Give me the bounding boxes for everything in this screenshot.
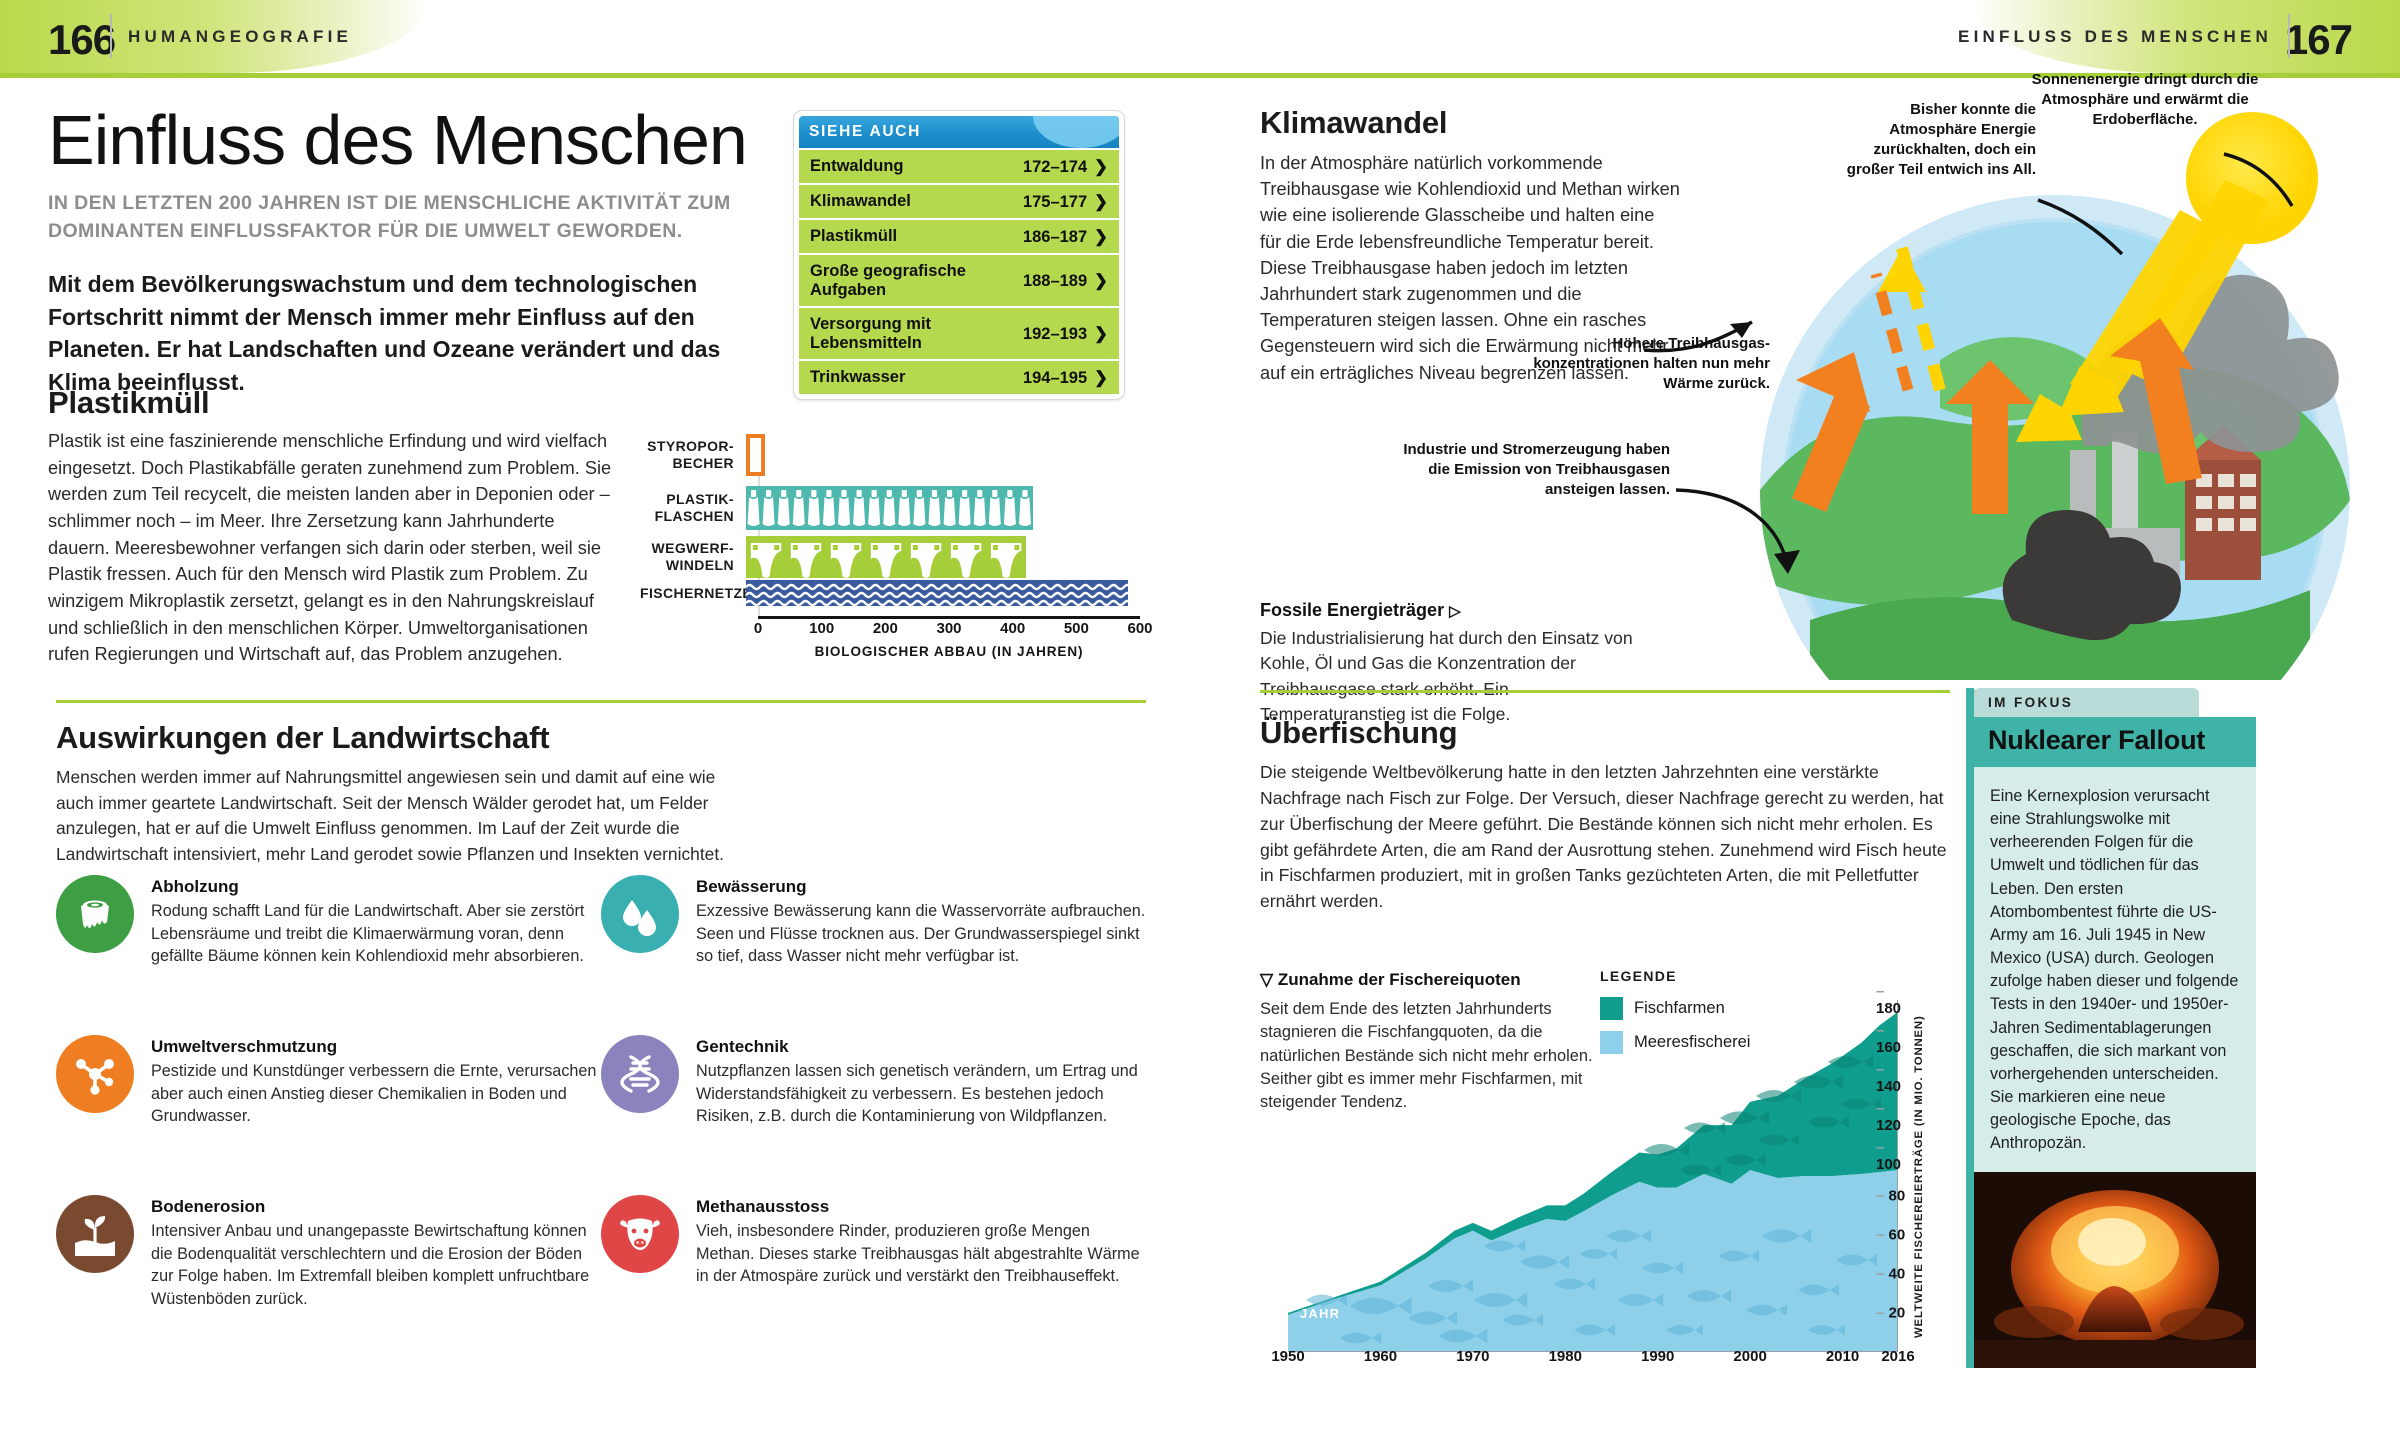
agriculture-impacts-grid: AbholzungRodung schafft Land für die Lan…: [56, 875, 1156, 1355]
chevron-right-icon: ❯: [1094, 228, 1108, 246]
running-head-left: HUMANGEOGRAFIE: [128, 27, 352, 47]
right-page: 167 EINFLUSS DES MENSCHEN: [1200, 0, 2400, 1434]
page-number-right: 167: [2285, 16, 2352, 64]
plastic-degradation-bar-chart: STYROPOR-BECHERPLASTIK-FLASCHENWEGWERF-W…: [640, 410, 1140, 660]
see-also-row[interactable]: Plastikmüll186–187❯: [799, 220, 1119, 253]
chevron-right-icon: ❯: [1094, 158, 1108, 176]
see-also-pages: 172–174❯: [1023, 157, 1108, 177]
chevron-right-icon: ❯: [1094, 272, 1108, 290]
see-also-label: Versorgung mit Lebensmitteln: [810, 315, 1023, 353]
impact-title: Bewässerung: [696, 877, 1146, 897]
agriculture-heading: Auswirkungen der Landwirtschaft: [56, 720, 549, 756]
page-deck: IN DEN LETZTEN 200 JAHREN IST DIE MENSCH…: [48, 190, 768, 245]
see-also-label: Plastikmüll: [810, 227, 897, 246]
see-also-pages: 194–195❯: [1023, 368, 1108, 388]
section-rule-agriculture: [56, 700, 1146, 703]
bar-chart-tick: 0: [754, 620, 762, 637]
bar-chart-x-ticks: 0100200300400500600: [758, 620, 1140, 642]
chevron-right-icon: ❯: [1094, 369, 1108, 387]
see-also-row[interactable]: Entwaldung172–174❯: [799, 150, 1119, 183]
see-also-box: SIEHE AUCH Entwaldung172–174❯Klimawandel…: [793, 110, 1125, 400]
bar-chart-tick: 600: [1127, 620, 1152, 637]
bar-chart-bar: [746, 536, 1026, 578]
agriculture-body: Menschen werden immer auf Nahrungsmittel…: [56, 765, 746, 867]
bar-chart-tick: 500: [1064, 620, 1089, 637]
see-also-row[interactable]: Große geografische Aufgaben188–189❯: [799, 255, 1119, 306]
impact-item: BewässerungExzessive Bewässerung kann di…: [601, 875, 1146, 1035]
bar-chart-category-label: PLASTIK-FLASCHEN: [640, 491, 746, 524]
impact-title: Bodenerosion: [151, 1197, 601, 1217]
dna-helix-icon: [601, 1035, 679, 1113]
impact-text: Vieh, insbesondere Rinder, produzieren g…: [696, 1220, 1146, 1288]
see-also-label: Klimawandel: [810, 192, 911, 211]
water-drops-icon: [601, 875, 679, 953]
bar-chart-tick: 200: [873, 620, 898, 637]
bar-chart-row: WEGWERF-WINDELN: [640, 536, 1026, 578]
bar-chart-category-label: FISCHERNETZE: [640, 585, 746, 602]
bar-chart-category-label: STYROPOR-BECHER: [640, 438, 746, 471]
page-lede: Mit dem Bevölkerungswachstum und dem tec…: [48, 268, 748, 399]
tree-stump-icon: [56, 875, 134, 953]
see-also-header: SIEHE AUCH: [799, 116, 1119, 148]
plastik-body: Plastik ist eine faszinierende menschlic…: [48, 428, 613, 668]
book-spread: 166 HUMANGEOGRAFIE Einfluss des Menschen…: [0, 0, 2400, 1434]
left-page: 166 HUMANGEOGRAFIE Einfluss des Menschen…: [0, 0, 1200, 1434]
see-also-pages: 188–189❯: [1023, 271, 1108, 291]
page-number-left: 166: [48, 16, 115, 64]
header-green-rule-right: [1200, 73, 2400, 78]
impact-title: Gentechnik: [696, 1037, 1146, 1057]
see-also-header-label: SIEHE AUCH: [809, 123, 921, 140]
cow-head-icon: [601, 1195, 679, 1273]
header-green-rule: [0, 73, 1200, 78]
chevron-right-icon: ❯: [1094, 325, 1108, 343]
bar-chart-bar: [746, 486, 1033, 530]
bar-chart-baseline: [758, 616, 1140, 619]
impact-text: Pestizide und Kunstdünger verbessern die…: [151, 1060, 601, 1128]
see-also-pages: 186–187❯: [1023, 227, 1108, 247]
see-also-label: Entwaldung: [810, 157, 904, 176]
page-title: Einfluss des Menschen: [48, 100, 747, 180]
bar-chart-bar: [746, 580, 1128, 606]
bar-chart-row: STYROPOR-BECHER: [640, 434, 765, 476]
impact-item: MethanausstossVieh, insbesondere Rinder,…: [601, 1195, 1146, 1355]
seedling-soil-icon: [56, 1195, 134, 1273]
running-head-right: EINFLUSS DES MENSCHEN: [1958, 27, 2272, 47]
header-divider-left: [110, 14, 112, 58]
impact-item: GentechnikNutzpflanzen lassen sich genet…: [601, 1035, 1146, 1195]
bar-chart-row: PLASTIK-FLASCHEN: [640, 486, 1033, 530]
plastik-heading: Plastikmüll: [48, 385, 209, 421]
bar-chart-tick: 100: [809, 620, 834, 637]
see-also-pages: 175–177❯: [1023, 192, 1108, 212]
impact-item: AbholzungRodung schafft Land für die Lan…: [56, 875, 601, 1035]
impact-text: Rodung schafft Land für die Landwirtscha…: [151, 900, 601, 968]
bar-chart-x-label: BIOLOGISCHER ABBAU (IN JAHREN): [758, 644, 1140, 659]
see-also-row[interactable]: Trinkwasser194–195❯: [799, 361, 1119, 394]
impact-text: Nutzpflanzen lassen sich genetisch verän…: [696, 1060, 1146, 1128]
chevron-right-icon: ❯: [1094, 193, 1108, 211]
see-also-pages: 192–193❯: [1023, 324, 1108, 344]
see-also-row[interactable]: Versorgung mit Lebensmitteln192–193❯: [799, 308, 1119, 359]
molecule-icon: [56, 1035, 134, 1113]
bar-chart-row: FISCHERNETZE: [640, 580, 1128, 606]
bar-chart-tick: 300: [936, 620, 961, 637]
impact-title: Methanausstoss: [696, 1197, 1146, 1217]
impact-text: Intensiver Anbau und unangepasste Bewirt…: [151, 1220, 601, 1311]
impact-item: BodenerosionIntensiver Anbau und unangep…: [56, 1195, 601, 1355]
impact-title: Abholzung: [151, 877, 601, 897]
bar-chart-tick: 400: [1000, 620, 1025, 637]
impact-title: Umweltverschmutzung: [151, 1037, 601, 1057]
header-divider-right: [2288, 14, 2290, 58]
see-also-label: Trinkwasser: [810, 368, 905, 387]
impact-item: UmweltverschmutzungPestizide und Kunstdü…: [56, 1035, 601, 1195]
bar-chart-category-label: WEGWERF-WINDELN: [640, 540, 746, 573]
bar-chart-bar: [746, 434, 765, 476]
see-also-row[interactable]: Klimawandel175–177❯: [799, 185, 1119, 218]
impact-text: Exzessive Bewässerung kann die Wasservor…: [696, 900, 1146, 968]
see-also-label: Große geografische Aufgaben: [810, 262, 1023, 300]
